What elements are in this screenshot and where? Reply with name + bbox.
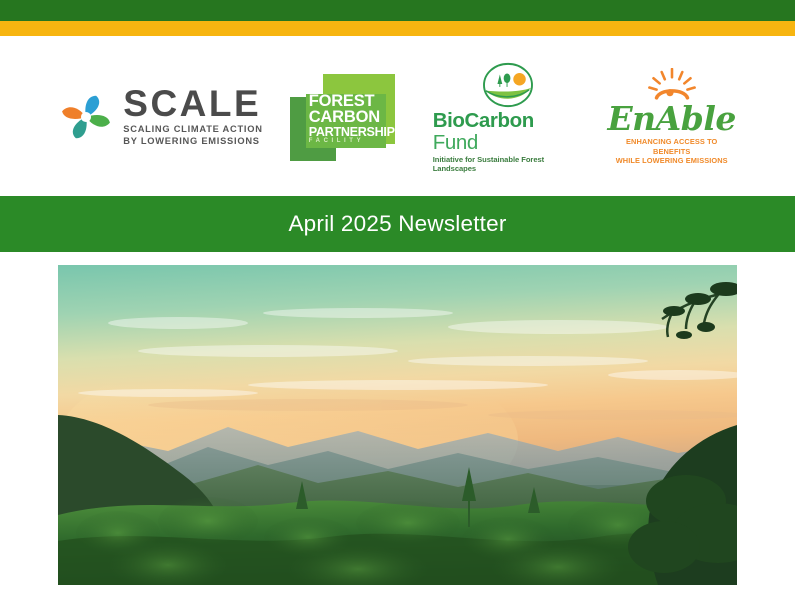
biocarbon-circle-icon (479, 61, 537, 109)
biocarbon-wordmark-light: Fund (433, 131, 478, 154)
biocarbon-wordmark: BioCarbon Fund (433, 110, 583, 153)
scale-wordmark: SCALE (123, 86, 261, 122)
scale-pinwheel-icon (58, 89, 114, 145)
enable-tagline-line1: ENHANCING ACCESS TO BENEFITS (607, 137, 737, 157)
scale-text-block: SCALE SCALING CLIMATE ACTION BY LOWERING… (123, 86, 262, 148)
newsletter-page: SCALE SCALING CLIMATE ACTION BY LOWERING… (0, 0, 795, 592)
enable-wordmark: EnAble (608, 102, 736, 135)
scale-tagline: SCALING CLIMATE ACTION BY LOWERING EMISS… (123, 124, 262, 148)
page-title: April 2025 Newsletter (288, 211, 506, 237)
logo-enable[interactable]: EnAble ENHANCING ACCESS TO BENEFITS WHIL… (607, 68, 737, 167)
biocarbon-tagline: Initiative for Sustainable Forest Landsc… (433, 155, 583, 173)
logo-biocarbon-fund[interactable]: BioCarbon Fund Initiative for Sustainabl… (433, 61, 583, 172)
scale-tagline-line2: BY LOWERING EMISSIONS (123, 136, 262, 148)
enable-tagline: ENHANCING ACCESS TO BENEFITS WHILE LOWER… (607, 137, 737, 167)
enable-tagline-line2: WHILE LOWERING EMISSIONS (607, 156, 737, 166)
fcpf-text-block: FOREST CARBON PARTNERSHIP FACILITY (309, 93, 387, 145)
fcpf-line-1: FOREST (309, 93, 387, 109)
fcpf-line-2: CARBON (309, 109, 387, 125)
fcpf-line-4: FACILITY (309, 139, 387, 145)
logo-forest-carbon-partnership-facility[interactable]: FOREST CARBON PARTNERSHIP FACILITY (287, 72, 409, 162)
scale-tagline-line1: SCALING CLIMATE ACTION (123, 124, 262, 136)
hero-landscape-image (58, 265, 737, 585)
biocarbon-wordmark-bold: BioCarbon (433, 109, 534, 132)
top-yellow-band (0, 21, 795, 36)
logo-scale[interactable]: SCALE SCALING CLIMATE ACTION BY LOWERING… (58, 86, 262, 148)
partner-logo-strip: SCALE SCALING CLIMATE ACTION BY LOWERING… (0, 36, 795, 194)
fcpf-line-3: PARTNERSHIP (309, 126, 387, 138)
newsletter-title-band: April 2025 Newsletter (0, 196, 795, 252)
top-green-band (0, 0, 795, 21)
